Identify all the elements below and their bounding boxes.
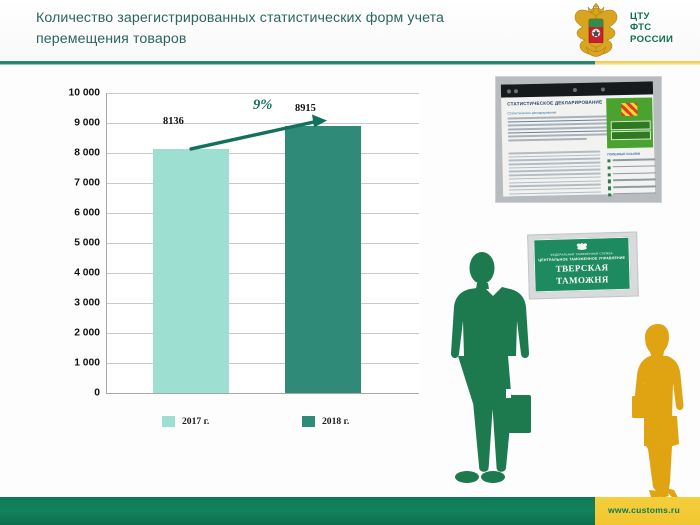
monitor-links-headline: ПОЛЕЗНЫЕ ССЫЛКИ xyxy=(607,151,655,156)
tverskaya-customs-sign-photo: ФЕДЕРАЛЬНАЯ ТАМОЖЕННАЯ СЛУЖБА ЦЕНТРАЛЬНО… xyxy=(527,231,639,299)
legend-swatch xyxy=(162,416,175,427)
y-axis-tick-label: 4 000 xyxy=(74,268,100,279)
sign-eagle-icon xyxy=(575,242,588,251)
sign-line-3: ТВЕРСКАЯ xyxy=(556,262,609,273)
chart-legend: 2017 г.2018 г. xyxy=(106,416,418,436)
browser-chrome-bar xyxy=(501,81,653,97)
emblem-text: ЦТУ ФТС РОССИИ xyxy=(630,11,673,45)
growth-percent-label: 9% xyxy=(253,97,272,114)
chart-plot-area: 813689159% xyxy=(106,93,419,394)
y-axis-tick-label: 1 000 xyxy=(74,358,100,369)
legend-item-2017[interactable]: 2017 г. xyxy=(162,416,209,427)
header-divider xyxy=(0,61,700,65)
header-divider-green xyxy=(0,61,597,65)
emblem-text-line-3: РОССИИ xyxy=(630,34,673,45)
organization-emblem-block: ЦТУ ФТС РОССИИ xyxy=(568,2,696,58)
footer-website-url[interactable]: www.customs.ru xyxy=(608,505,680,515)
emblem-text-line-2: ФТС xyxy=(630,22,673,33)
footer-green-bar xyxy=(0,497,597,525)
page-title-line-1: Количество зарегистрированных статистиче… xyxy=(36,8,556,29)
y-axis-labels: 10 0009 0008 0007 0006 0005 0004 0003 00… xyxy=(18,93,100,393)
page-title-line-2: перемещения товаров xyxy=(36,29,556,50)
monitor-green-promo-panel xyxy=(606,97,653,148)
y-axis-tick-label: 2 000 xyxy=(74,328,100,339)
y-axis-tick-label: 0 xyxy=(94,388,100,399)
businessman-silhouette xyxy=(444,249,536,487)
y-axis-tick-label: 9 000 xyxy=(74,118,100,129)
monitor-screen-subtitle: Статистическое декларирование xyxy=(507,110,556,115)
legend-label: 2017 г. xyxy=(182,416,209,427)
slide-footer: www.customs.ru xyxy=(0,497,700,525)
slide-header: Количество зарегистрированных статистиче… xyxy=(0,0,700,62)
legend-label: 2018 г. xyxy=(322,416,349,427)
y-axis-tick-label: 10 000 xyxy=(69,88,101,99)
y-axis-tick-label: 8 000 xyxy=(74,148,100,159)
promo-qr-icon xyxy=(621,103,637,116)
sign-line-4: ТАМОЖНЯ xyxy=(556,274,609,285)
businesswoman-silhouette xyxy=(628,322,690,504)
customs-sign-plate: ФЕДЕРАЛЬНАЯ ТАМОЖЕННАЯ СЛУЖБА ЦЕНТРАЛЬНО… xyxy=(533,237,630,293)
page-title: Количество зарегистрированных статистиче… xyxy=(36,8,556,50)
header-divider-gold xyxy=(595,61,700,65)
legend-swatch xyxy=(302,416,315,427)
slide-root: Количество зарегистрированных статистиче… xyxy=(0,0,700,525)
statistical-declaration-webpage-photo: СТАТИСТИЧЕСКОЕ ДЕКЛАРИРОВАНИЕ Статистиче… xyxy=(495,76,662,203)
growth-arrow-icon xyxy=(107,93,419,393)
monitor-links-panel: ПОЛЕЗНЫЕ ССЫЛКИ xyxy=(607,151,656,200)
monitor-screen: СТАТИСТИЧЕСКОЕ ДЕКЛАРИРОВАНИЕ Статистиче… xyxy=(501,81,655,196)
y-axis-tick-label: 7 000 xyxy=(74,178,100,189)
double-headed-eagle-emblem-icon xyxy=(568,3,624,57)
y-axis-tick-label: 6 000 xyxy=(74,208,100,219)
y-axis-tick-label: 3 000 xyxy=(74,298,100,309)
emblem-text-line-1: ЦТУ xyxy=(630,11,673,22)
y-axis-tick-label: 5 000 xyxy=(74,238,100,249)
monitor-list-block xyxy=(508,151,601,201)
bar-chart: 10 0009 0008 0007 0006 0005 0004 0003 00… xyxy=(18,80,428,448)
legend-item-2018[interactable]: 2018 г. xyxy=(302,416,349,427)
